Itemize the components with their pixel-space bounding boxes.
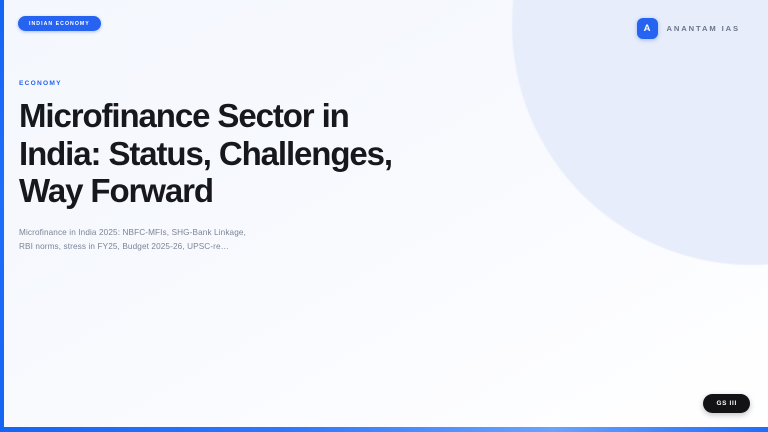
left-accent-rail <box>0 0 4 432</box>
gs-paper-label: GS III <box>716 400 737 407</box>
brand-logo-letter: A <box>644 24 651 34</box>
brand-lockup[interactable]: A ANANTAM IAS <box>637 18 741 39</box>
gs-paper-chip[interactable]: GS III <box>703 394 750 413</box>
bottom-accent-rail <box>0 427 768 432</box>
topic-badge-label: INDIAN ECONOMY <box>29 21 90 27</box>
slide-canvas: INDIAN ECONOMY A ANANTAM IAS ECONOMY Mic… <box>0 0 768 432</box>
page-title: Microfinance Sector in India: Status, Ch… <box>19 97 419 210</box>
brand-name-label: ANANTAM IAS <box>667 24 741 33</box>
brand-logo-icon: A <box>637 18 658 39</box>
decorative-circle <box>512 0 768 265</box>
hero-content: ECONOMY Microfinance Sector in India: St… <box>19 80 449 253</box>
hero-summary: Microfinance in India 2025: NBFC-MFIs, S… <box>19 226 251 254</box>
category-eyebrow: ECONOMY <box>19 80 449 87</box>
topic-badge[interactable]: INDIAN ECONOMY <box>18 16 101 31</box>
